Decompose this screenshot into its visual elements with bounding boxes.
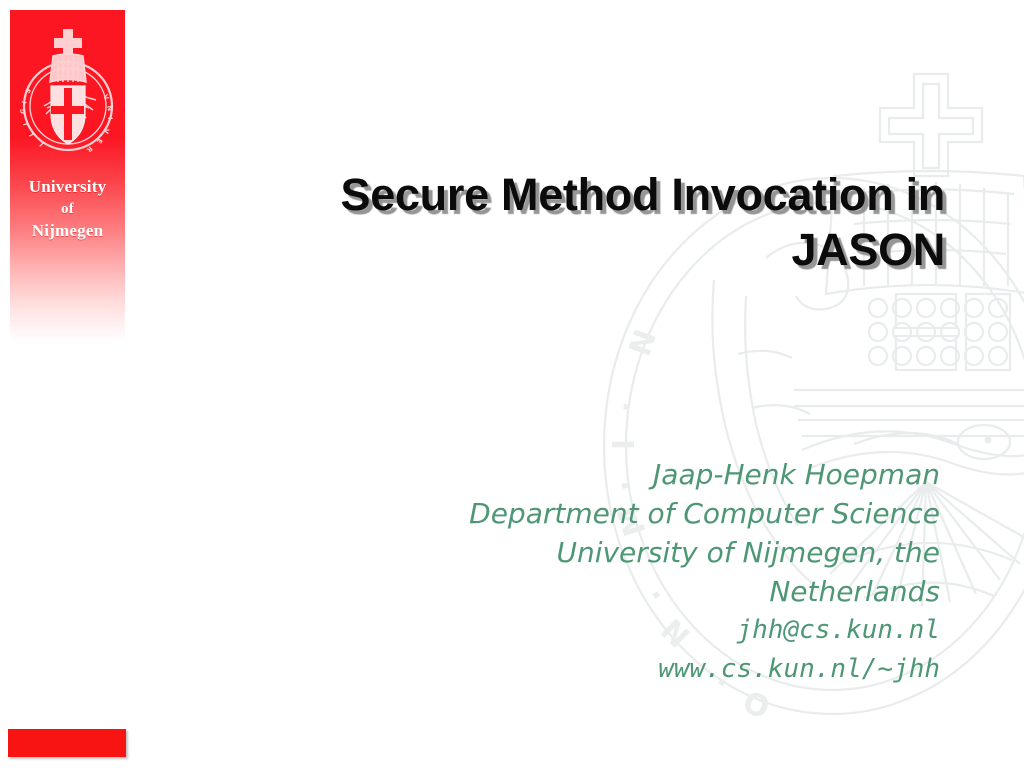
university-wordmark: University of Nijmegen	[10, 176, 125, 242]
byline-institution-line-2: Netherlands	[300, 572, 940, 611]
byline-author: Jaap-Henk Hoepman	[300, 455, 940, 494]
university-brand-banner: S I G I L L V N I V E R University of Ni…	[10, 10, 125, 342]
byline-institution-line-1: University of Nijmegen, the	[300, 533, 940, 572]
svg-text:I: I	[21, 122, 29, 126]
svg-text:·: ·	[609, 399, 645, 415]
title-line-1: Secure Method Invocation in	[341, 169, 945, 220]
title-line-2: JASON	[791, 224, 945, 275]
presentation-slide: N · I · M · N · O	[0, 0, 1024, 768]
author-affiliation-block: Jaap-Henk Hoepman Department of Computer…	[300, 455, 940, 689]
wordmark-line-2: of	[10, 198, 125, 220]
svg-text:G: G	[19, 108, 27, 114]
slide-title: Secure Method Invocation in JASON	[255, 167, 945, 277]
wordmark-line-3: Nijmegen	[10, 220, 125, 242]
svg-text:I: I	[105, 117, 113, 120]
svg-text:E: E	[94, 137, 103, 145]
byline-homepage[interactable]: www.cs.kun.nl/~jhh	[300, 650, 940, 689]
byline-department: Department of Computer Science	[300, 494, 940, 533]
wordmark-line-1: University	[10, 176, 125, 198]
byline-email[interactable]: jhh@cs.kun.nl	[300, 611, 940, 650]
svg-text:N: N	[623, 325, 664, 361]
red-accent-bar	[8, 729, 126, 757]
svg-text:I: I	[607, 439, 642, 450]
university-seal-icon: S I G I L L V N I V E R	[17, 26, 119, 168]
